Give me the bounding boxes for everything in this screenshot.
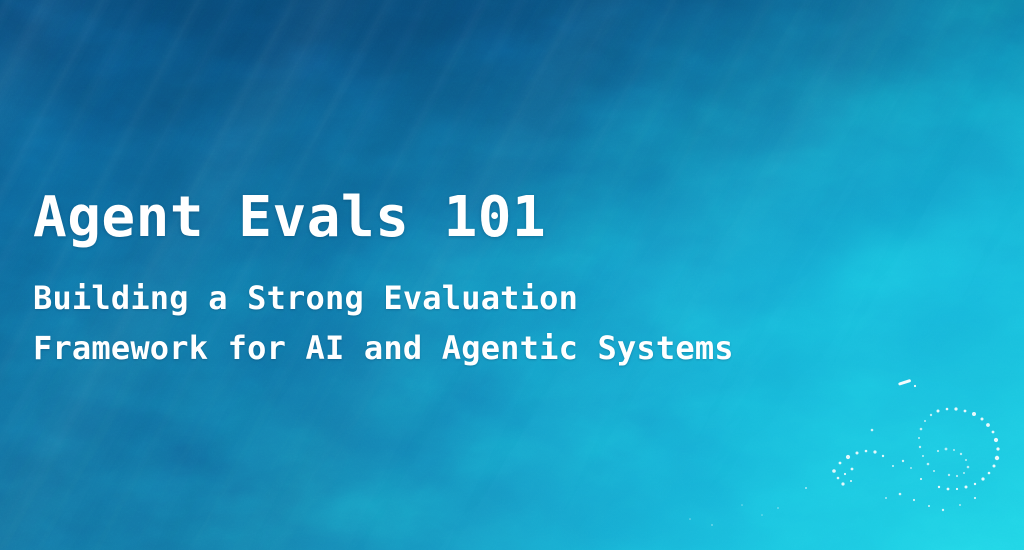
page-subtitle: Building a Strong Evaluation Framework f… [33,251,734,373]
banner-text-block: Agent Evals 101 Building a Strong Evalua… [33,185,734,373]
page-subtitle-line-1: Building a Strong Evaluation [33,273,734,323]
title-banner: Agent Evals 101 Building a Strong Evalua… [0,0,1024,550]
page-subtitle-line-2: Framework for AI and Agentic Systems [33,323,734,373]
page-title: Agent Evals 101 [33,185,734,251]
